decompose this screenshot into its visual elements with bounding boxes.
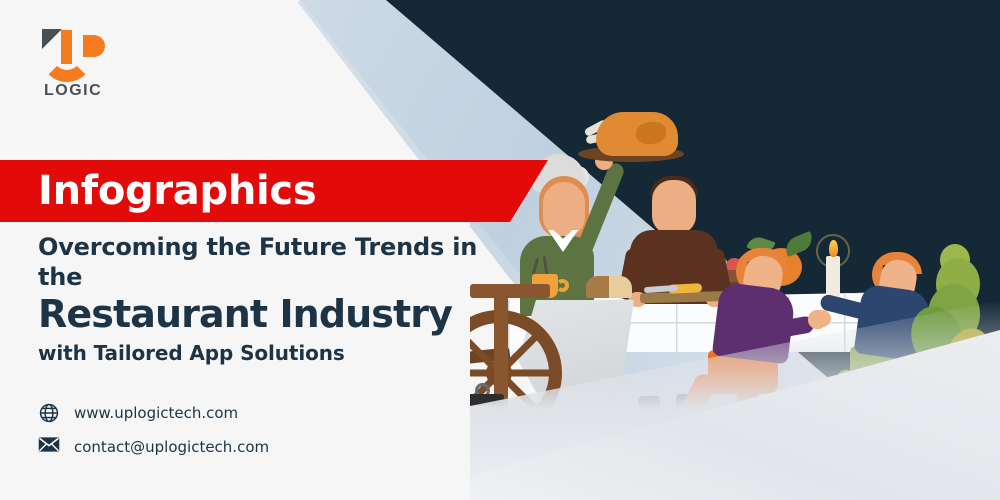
candle-icon [826, 256, 840, 300]
runner2-hand [812, 310, 831, 327]
bread-crust [586, 276, 609, 298]
headline-line-2: Restaurant Industry [38, 293, 508, 336]
logo-wordmark: LOGIC [44, 83, 102, 99]
chef-head [543, 182, 585, 236]
uplogic-logo[interactable]: LOGIC [37, 27, 117, 105]
contact-block: www.uplogictech.com contact@uplogictech.… [38, 396, 269, 464]
globe-icon [38, 402, 60, 424]
contact-row-website[interactable]: www.uplogictech.com [38, 396, 269, 430]
logo-bar-icon [61, 30, 72, 64]
contact-row-email[interactable]: contact@uplogictech.com [38, 430, 269, 464]
cook-head [652, 180, 696, 234]
candle-flame-icon [829, 240, 838, 257]
coffee-mug-handle [556, 279, 569, 292]
headline-block: Overcoming the Future Trends in the Rest… [38, 232, 508, 366]
website-url: www.uplogictech.com [74, 406, 238, 421]
headline-line-1: Overcoming the Future Trends in the [38, 232, 508, 292]
kicker-label: Infographics [38, 168, 316, 214]
headline-line-3: with Tailored App Solutions [38, 340, 508, 366]
infographic-banner: LOGIC Infographics Overcoming the Future… [0, 0, 1000, 500]
roast-turkey-shading [636, 122, 666, 144]
envelope-icon [38, 436, 60, 458]
logo-dot-icon [83, 35, 105, 57]
email-address: contact@uplogictech.com [74, 440, 269, 455]
